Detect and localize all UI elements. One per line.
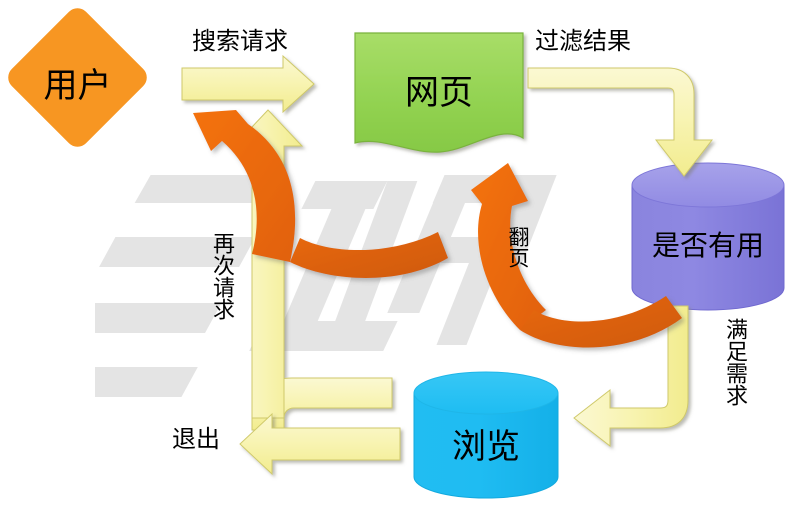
- node-useful-label: 是否有用: [632, 224, 784, 264]
- node-browse-label: 浏览: [414, 419, 558, 468]
- edge-search-request[interactable]: [182, 56, 314, 112]
- node-user-label: 用户: [25, 58, 130, 107]
- edge-request-again-label: 再次请求: [211, 232, 233, 320]
- flowchart-canvas: 用户 网页 是否有用 浏览 搜索请求 过滤结果 满足需求 再次请求 退出 翻页: [0, 0, 800, 510]
- edge-exit[interactable]: [240, 414, 400, 474]
- edge-exit-label: 退出: [172, 428, 220, 452]
- node-webpage-label: 网页: [355, 65, 523, 114]
- edge-filter-result[interactable]: [528, 68, 712, 176]
- edge-search-request-label: 搜索请求: [192, 30, 288, 54]
- edge-filter-result-label: 过滤结果: [535, 30, 631, 54]
- edge-page-turn-label: 翻页: [507, 226, 528, 268]
- edge-meet-demand-label: 满足需求: [724, 318, 746, 406]
